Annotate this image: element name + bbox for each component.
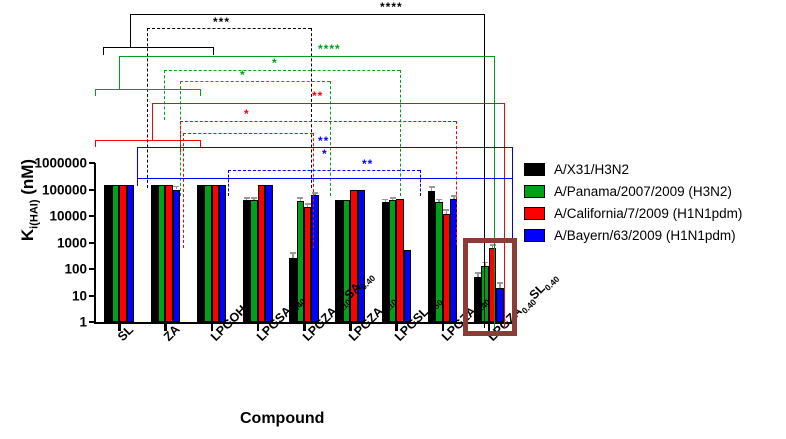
error-bar-cap	[443, 209, 449, 211]
legend-item: A/Panama/2007/2009 (H3N2)	[524, 180, 786, 202]
bracket-tick-left-blue-solid-inner	[137, 178, 138, 186]
bracket-tick-left-red-dashed	[183, 133, 184, 248]
significance-stars: **	[362, 158, 373, 170]
bar	[158, 185, 165, 322]
bar	[358, 190, 365, 323]
bracket-tick-right-black-solid-inner	[213, 47, 214, 55]
legend-label: A/California/7/2009 (H1N1pdm)	[554, 206, 742, 221]
bracket-tick-right-blue-dashdot	[420, 170, 421, 196]
bracket-tick-left-green-solid-inner	[95, 89, 96, 96]
legend-swatch	[524, 229, 545, 242]
bar	[258, 185, 265, 322]
legend: A/X31/H3N2A/Panama/2007/2009 (H3N2)A/Cal…	[524, 158, 786, 246]
bracket-tick-left-black-solid-outer	[130, 14, 131, 47]
error-bar-cap	[251, 197, 257, 199]
bracket-line-blue-solid-inner	[137, 178, 512, 179]
bracket-tick-left-green-dashdot	[164, 70, 165, 120]
bar	[204, 185, 211, 322]
bracket-line-green-dashed	[180, 81, 330, 82]
error-bar-cap	[382, 199, 388, 201]
significance-stars: *	[272, 57, 278, 69]
bar	[165, 185, 172, 322]
bracket-tick-right-red-dashed	[313, 133, 314, 248]
bracket-line-green-dashdot	[164, 70, 400, 71]
legend-label: A/Panama/2007/2009 (H3N2)	[554, 184, 732, 199]
bar	[127, 185, 134, 322]
bar	[197, 185, 204, 322]
error-bar-cap	[290, 252, 296, 254]
bar	[119, 185, 126, 322]
legend-item: A/X31/H3N2	[524, 158, 786, 180]
legend-item: A/Bayern/63/2009 (H1N1pdm)	[524, 224, 786, 246]
error-bar-cap	[436, 199, 442, 201]
error-bar-cap	[390, 197, 396, 199]
bracket-line-red-solid-inner	[95, 140, 200, 141]
bar	[212, 185, 219, 322]
bracket-tick-right-black-dashed	[311, 28, 312, 188]
bar	[243, 200, 250, 322]
bar	[265, 185, 272, 322]
significance-stars: *	[322, 148, 328, 160]
bracket-tick-left-black-dashed	[147, 28, 148, 188]
legend-swatch	[524, 185, 545, 198]
x-axis-title: Compound	[240, 410, 324, 428]
bar	[151, 185, 158, 322]
bar	[112, 185, 119, 322]
bracket-tick-left-blue-solid-outer	[137, 147, 138, 180]
bracket-tick-left-red-solid-inner	[95, 140, 96, 147]
legend-swatch	[524, 163, 545, 176]
legend-swatch	[524, 207, 545, 220]
error-bar-cap	[429, 186, 435, 188]
bar	[443, 214, 450, 322]
bar	[104, 185, 111, 322]
bracket-tick-left-red-solid-outer	[152, 103, 153, 140]
error-bar-cap	[244, 197, 250, 199]
bracket-line-black-solid-inner	[103, 47, 213, 48]
chart-figure: Ki(HAI) (nM) 110100100010000100000100000…	[0, 0, 786, 439]
bracket-tick-left-black-solid-inner	[103, 47, 104, 55]
bracket-line-green-solid-inner	[95, 89, 200, 90]
bracket-tick-left-green-solid-outer	[119, 56, 120, 89]
bracket-tick-right-green-solid-inner	[200, 89, 201, 96]
bracket-line-red-solid-outer	[152, 103, 504, 104]
highlight-box	[463, 238, 517, 336]
significance-stars: **	[312, 90, 323, 102]
bar	[219, 185, 226, 322]
bracket-line-black-solid-outer	[130, 14, 484, 15]
significance-stars: *	[240, 69, 246, 81]
error-bar-cap	[297, 197, 303, 199]
error-bar-cap	[173, 186, 179, 188]
bracket-line-blue-dashdot	[228, 170, 420, 171]
bar	[250, 200, 257, 322]
significance-stars: **	[318, 135, 329, 147]
legend-item: A/California/7/2009 (H1N1pdm)	[524, 202, 786, 224]
significance-stars: ****	[318, 43, 341, 55]
significance-stars: ***	[213, 16, 230, 28]
bar	[404, 250, 411, 322]
error-bar-cap	[305, 203, 311, 205]
legend-label: A/X31/H3N2	[554, 162, 629, 177]
bracket-tick-left-blue-dashdot	[228, 170, 229, 196]
bar	[173, 190, 180, 323]
legend-label: A/Bayern/63/2009 (H1N1pdm)	[554, 228, 736, 243]
bracket-line-red-dashed	[183, 133, 313, 134]
bracket-tick-right-red-solid-inner	[200, 140, 201, 147]
significance-stars: ****	[380, 1, 403, 13]
bracket-tick-right-red-dashdot	[456, 121, 457, 245]
bracket-line-red-dashdot	[180, 121, 456, 122]
bracket-line-green-solid-outer	[119, 56, 494, 57]
significance-stars: *	[244, 108, 250, 120]
